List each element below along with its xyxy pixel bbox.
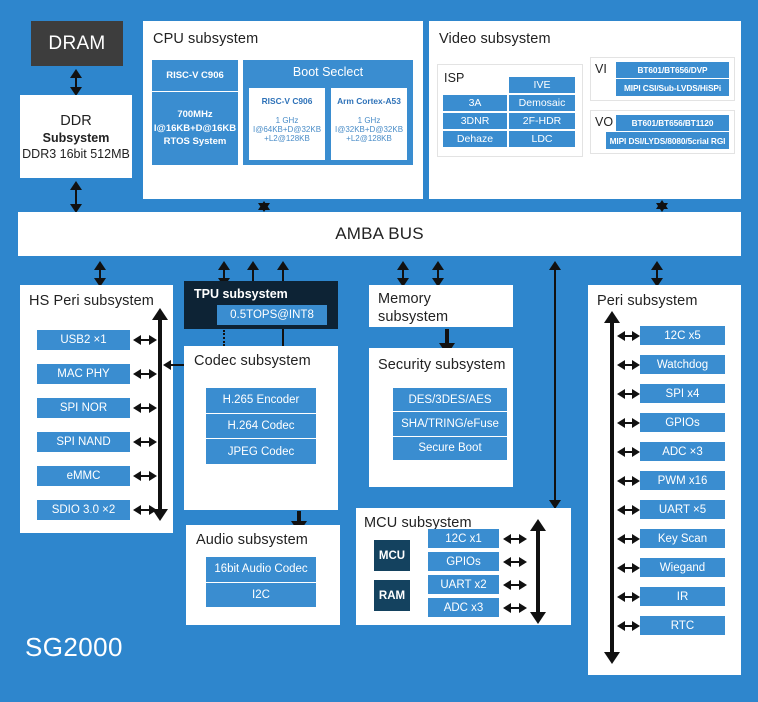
- audio-subsystem-title: Audio subsystem: [196, 532, 308, 548]
- peri-item-5-label: PWM x16: [640, 471, 725, 490]
- peri-item-6: UART ×5: [640, 500, 725, 519]
- security-subsystem-title: Security subsystem: [378, 357, 506, 373]
- amba-bus-label: AMBA BUS: [335, 224, 424, 244]
- ddr-subtitle: Subsystem: [43, 131, 110, 145]
- vo-items: BT601/BT656/BT1120 MIPI DSI/LYDS/8080/5c…: [616, 115, 729, 149]
- peri-item-10-label: RTC: [640, 616, 725, 635]
- mcu-item-1-label: GPIOs: [428, 552, 499, 571]
- codec-item-0: H.265 Encoder: [206, 388, 316, 414]
- mcu-item-2: UART x2: [428, 575, 499, 594]
- mcu-item-3-label: ADC x3: [428, 598, 499, 617]
- isp-left-dehaze: Dehaze: [442, 130, 508, 148]
- codec-item-1: H.264 Codec: [206, 414, 316, 440]
- cpu-core-detail-1: I@16KB+D@16KB: [154, 122, 236, 136]
- cpu-core-detail-0: 700MHz: [177, 108, 212, 122]
- peri-item-7-label: Key Scan: [640, 529, 725, 548]
- mcu-item-1: GPIOs: [428, 552, 499, 571]
- mcu-core-mcu: MCU: [374, 540, 410, 571]
- vi-item-1: MIPI CSI/Sub-LVDS/HiSPi: [616, 79, 729, 96]
- chip-name: SG2000: [25, 632, 123, 663]
- tpu-value: 0.5TOPS@INT8: [217, 305, 327, 325]
- ddr-spec: DDR3 16bit 512MB: [22, 147, 130, 161]
- mcu-item-0: 12C x1: [428, 529, 499, 548]
- boot-option-1: Arm Cortex-A53 1 GHz I@32KB+D@32KB +L2@1…: [331, 88, 407, 160]
- isp-cell-ldc: LDC: [508, 130, 576, 148]
- codec-subsystem-title: Codec subsystem: [194, 353, 311, 369]
- cpu-core-detail: 700MHz I@16KB+D@16KB RTOS System: [152, 92, 238, 165]
- isp-cell-3a: 3A: [442, 94, 508, 112]
- cpu-core-block: RISC-V C906 700MHz I@16KB+D@16KB RTOS Sy…: [152, 60, 238, 165]
- audio-items: 16bit Audio Codec I2C: [206, 557, 316, 607]
- audio-item-1: I2C: [206, 583, 316, 608]
- memory-subsystem-title: Memory subsystem: [378, 290, 498, 326]
- codec-item-2: JPEG Codec: [206, 439, 316, 464]
- mcu-item-0-label: 12C x1: [428, 529, 499, 548]
- peri-subsystem-title: Peri subsystem: [597, 293, 698, 309]
- peri-item-4: ADC ×3: [640, 442, 725, 461]
- audio-item-0: 16bit Audio Codec: [206, 557, 316, 583]
- mcu-core-mcu-label: MCU: [379, 550, 405, 562]
- hs-peri-item-3: SPI NAND: [37, 432, 130, 452]
- vo-item-0: BT601/BT656/BT1120: [616, 115, 729, 132]
- peri-item-8: Wiegand: [640, 558, 725, 577]
- peri-item-0-label: 12C x5: [640, 326, 725, 345]
- hs-peri-item-4: eMMC: [37, 466, 130, 486]
- isp-right-2fhdr: 2F-HDR: [508, 112, 576, 130]
- codec-items: H.265 Encoder H.264 Codec JPEG Codec: [206, 388, 316, 464]
- hs-peri-item-1-label: MAC PHY: [37, 364, 130, 384]
- peri-item-4-label: ADC ×3: [640, 442, 725, 461]
- tpu-subsystem-title: TPU subsystem: [194, 287, 288, 301]
- peri-item-1-label: Watchdog: [640, 355, 725, 374]
- vi-item-0: BT601/BT656/DVP: [616, 62, 729, 79]
- isp-right-demosaic: Demosaic: [508, 94, 576, 112]
- peri-item-1: Watchdog: [640, 355, 725, 374]
- isp-label: ISP: [444, 71, 464, 85]
- isp-cell-3dnr: 3DNR: [442, 112, 508, 130]
- boot-option-0-detail-2: +L2@128KB: [264, 134, 310, 143]
- peri-item-2-label: SPI x4: [640, 384, 725, 403]
- security-item-1: SHA/TRING/eFuse: [393, 412, 507, 436]
- vi-items: BT601/BT656/DVP MIPI CSI/Sub-LVDS/HiSPi: [616, 62, 729, 96]
- tpu-subsystem-panel: TPU subsystem 0.5TOPS@INT8: [184, 281, 338, 329]
- hs-peri-item-5: SDIO 3.0 ×2: [37, 500, 130, 520]
- mcu-item-2-label: UART x2: [428, 575, 499, 594]
- cpu-subsystem-title: CPU subsystem: [153, 31, 258, 47]
- dram-block: DRAM: [31, 21, 123, 66]
- boot-option-0-detail-0: 1 GHz: [276, 116, 299, 125]
- hs-peri-item-5-label: SDIO 3.0 ×2: [37, 500, 130, 520]
- hs-peri-item-1: MAC PHY: [37, 364, 130, 384]
- boot-select-block: Boot Seclect RISC-V C906 1 GHz I@64KB+D@…: [243, 60, 413, 165]
- peri-item-7: Key Scan: [640, 529, 725, 548]
- isp-right-ive: IVE: [508, 76, 576, 94]
- boot-option-1-name: Arm Cortex-A53: [337, 96, 401, 106]
- hs-peri-item-2-label: SPI NOR: [37, 398, 130, 418]
- boot-option-1-detail-1: I@32KB+D@32KB: [335, 125, 403, 134]
- peri-item-9-label: IR: [640, 587, 725, 606]
- peri-item-3-label: GPIOs: [640, 413, 725, 432]
- mcu-core-ram: RAM: [374, 580, 410, 611]
- memory-title-line1: Memory: [378, 291, 431, 307]
- peri-item-10: RTC: [640, 616, 725, 635]
- cpu-core-name: RISC-V C906: [152, 60, 238, 92]
- vo-item-1: MIPI DSI/LYDS/8080/5crial RGI: [606, 132, 729, 149]
- security-items: DES/3DES/AES SHA/TRING/eFuse Secure Boot: [393, 388, 507, 460]
- peri-item-3: GPIOs: [640, 413, 725, 432]
- security-item-2: Secure Boot: [393, 437, 507, 460]
- peri-item-6-label: UART ×5: [640, 500, 725, 519]
- boot-option-0-detail-1: I@64KB+D@32KB: [253, 125, 321, 134]
- hs-peri-item-0-label: USB2 ×1: [37, 330, 130, 350]
- isp-cell-2fhdr: 2F-HDR: [508, 112, 576, 130]
- boot-select-title: Boot Seclect: [243, 60, 413, 84]
- boot-option-1-detail-0: 1 GHz: [358, 116, 381, 125]
- mcu-item-3: ADC x3: [428, 598, 499, 617]
- security-item-0: DES/3DES/AES: [393, 388, 507, 412]
- boot-option-1-detail-2: +L2@128KB: [346, 134, 392, 143]
- boot-option-0: RISC-V C906 1 GHz I@64KB+D@32KB +L2@128K…: [249, 88, 325, 160]
- cpu-core-detail-2: RTOS System: [164, 135, 227, 149]
- peri-item-8-label: Wiegand: [640, 558, 725, 577]
- isp-left-3dnr: 3DNR: [442, 112, 508, 130]
- isp-cell-demosaic: Demosaic: [508, 94, 576, 112]
- amba-bus: AMBA BUS: [18, 212, 741, 256]
- ddr-title: DDR: [60, 113, 91, 129]
- boot-option-0-name: RISC-V C906: [262, 96, 313, 106]
- mcu-core-ram-label: RAM: [379, 590, 405, 602]
- peri-item-9: IR: [640, 587, 725, 606]
- isp-cell-ive: IVE: [508, 76, 576, 94]
- dram-label: DRAM: [48, 33, 105, 55]
- memory-title-line2: subsystem: [378, 309, 448, 325]
- isp-right-ldc: LDC: [508, 130, 576, 148]
- peri-item-0: 12C x5: [640, 326, 725, 345]
- peri-item-5: PWM x16: [640, 471, 725, 490]
- hs-peri-item-2: SPI NOR: [37, 398, 130, 418]
- ddr-subsystem-panel: DDR Subsystem DDR3 16bit 512MB: [20, 95, 132, 178]
- isp-left-3a: 3A: [442, 94, 508, 112]
- hs-peri-item-4-label: eMMC: [37, 466, 130, 486]
- isp-cell-dehaze: Dehaze: [442, 130, 508, 148]
- hs-peri-item-0: USB2 ×1: [37, 330, 130, 350]
- hs-peri-item-3-label: SPI NAND: [37, 432, 130, 452]
- hs-peri-subsystem-title: HS Peri subsystem: [29, 293, 154, 309]
- vi-label: VI: [595, 62, 607, 76]
- vo-label: VO: [595, 115, 613, 129]
- video-subsystem-title: Video subsystem: [439, 31, 551, 47]
- peri-item-2: SPI x4: [640, 384, 725, 403]
